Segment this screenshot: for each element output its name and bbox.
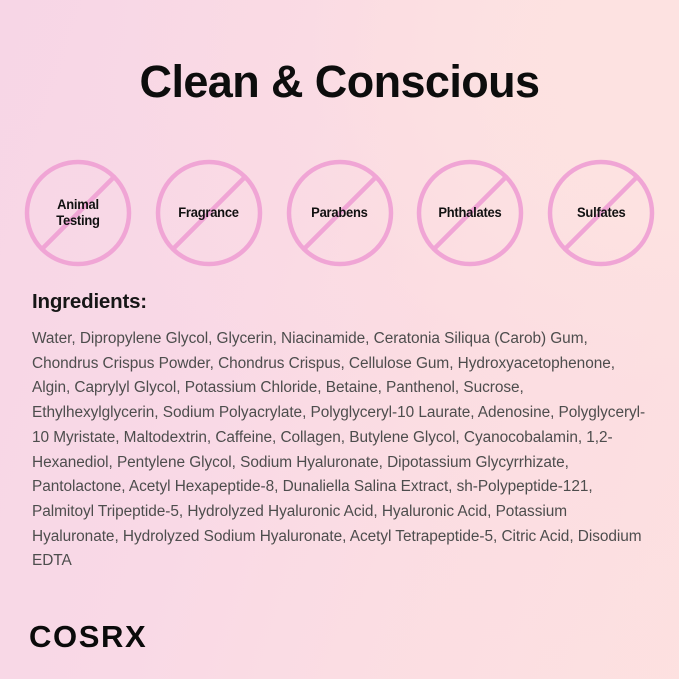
badge-label: Sulfates xyxy=(577,205,626,221)
ingredients-heading: Ingredients: xyxy=(32,290,147,314)
badge-phthalates: Phthalates xyxy=(414,157,526,269)
badge-label: Fragrance xyxy=(178,205,239,221)
badge-sulfates: Sulfates xyxy=(545,157,657,269)
badge-label: Phthalates xyxy=(439,205,502,221)
product-info-panel: Clean & Conscious Animal Testing Fragran… xyxy=(0,0,679,679)
badge-fragrance: Fragrance xyxy=(153,157,265,269)
ingredients-list: Water, Dipropylene Glycol, Glycerin, Nia… xyxy=(32,327,649,574)
brand-logo: COSRX xyxy=(29,621,147,652)
badge-label: Parabens xyxy=(311,205,367,221)
badge-label: Animal Testing xyxy=(40,197,117,229)
badge-animal-testing: Animal Testing xyxy=(22,157,134,269)
free-from-badge-row: Animal Testing Fragrance Parabens Phthal… xyxy=(22,157,657,269)
badge-parabens: Parabens xyxy=(284,157,396,269)
page-title: Clean & Conscious xyxy=(0,58,679,105)
